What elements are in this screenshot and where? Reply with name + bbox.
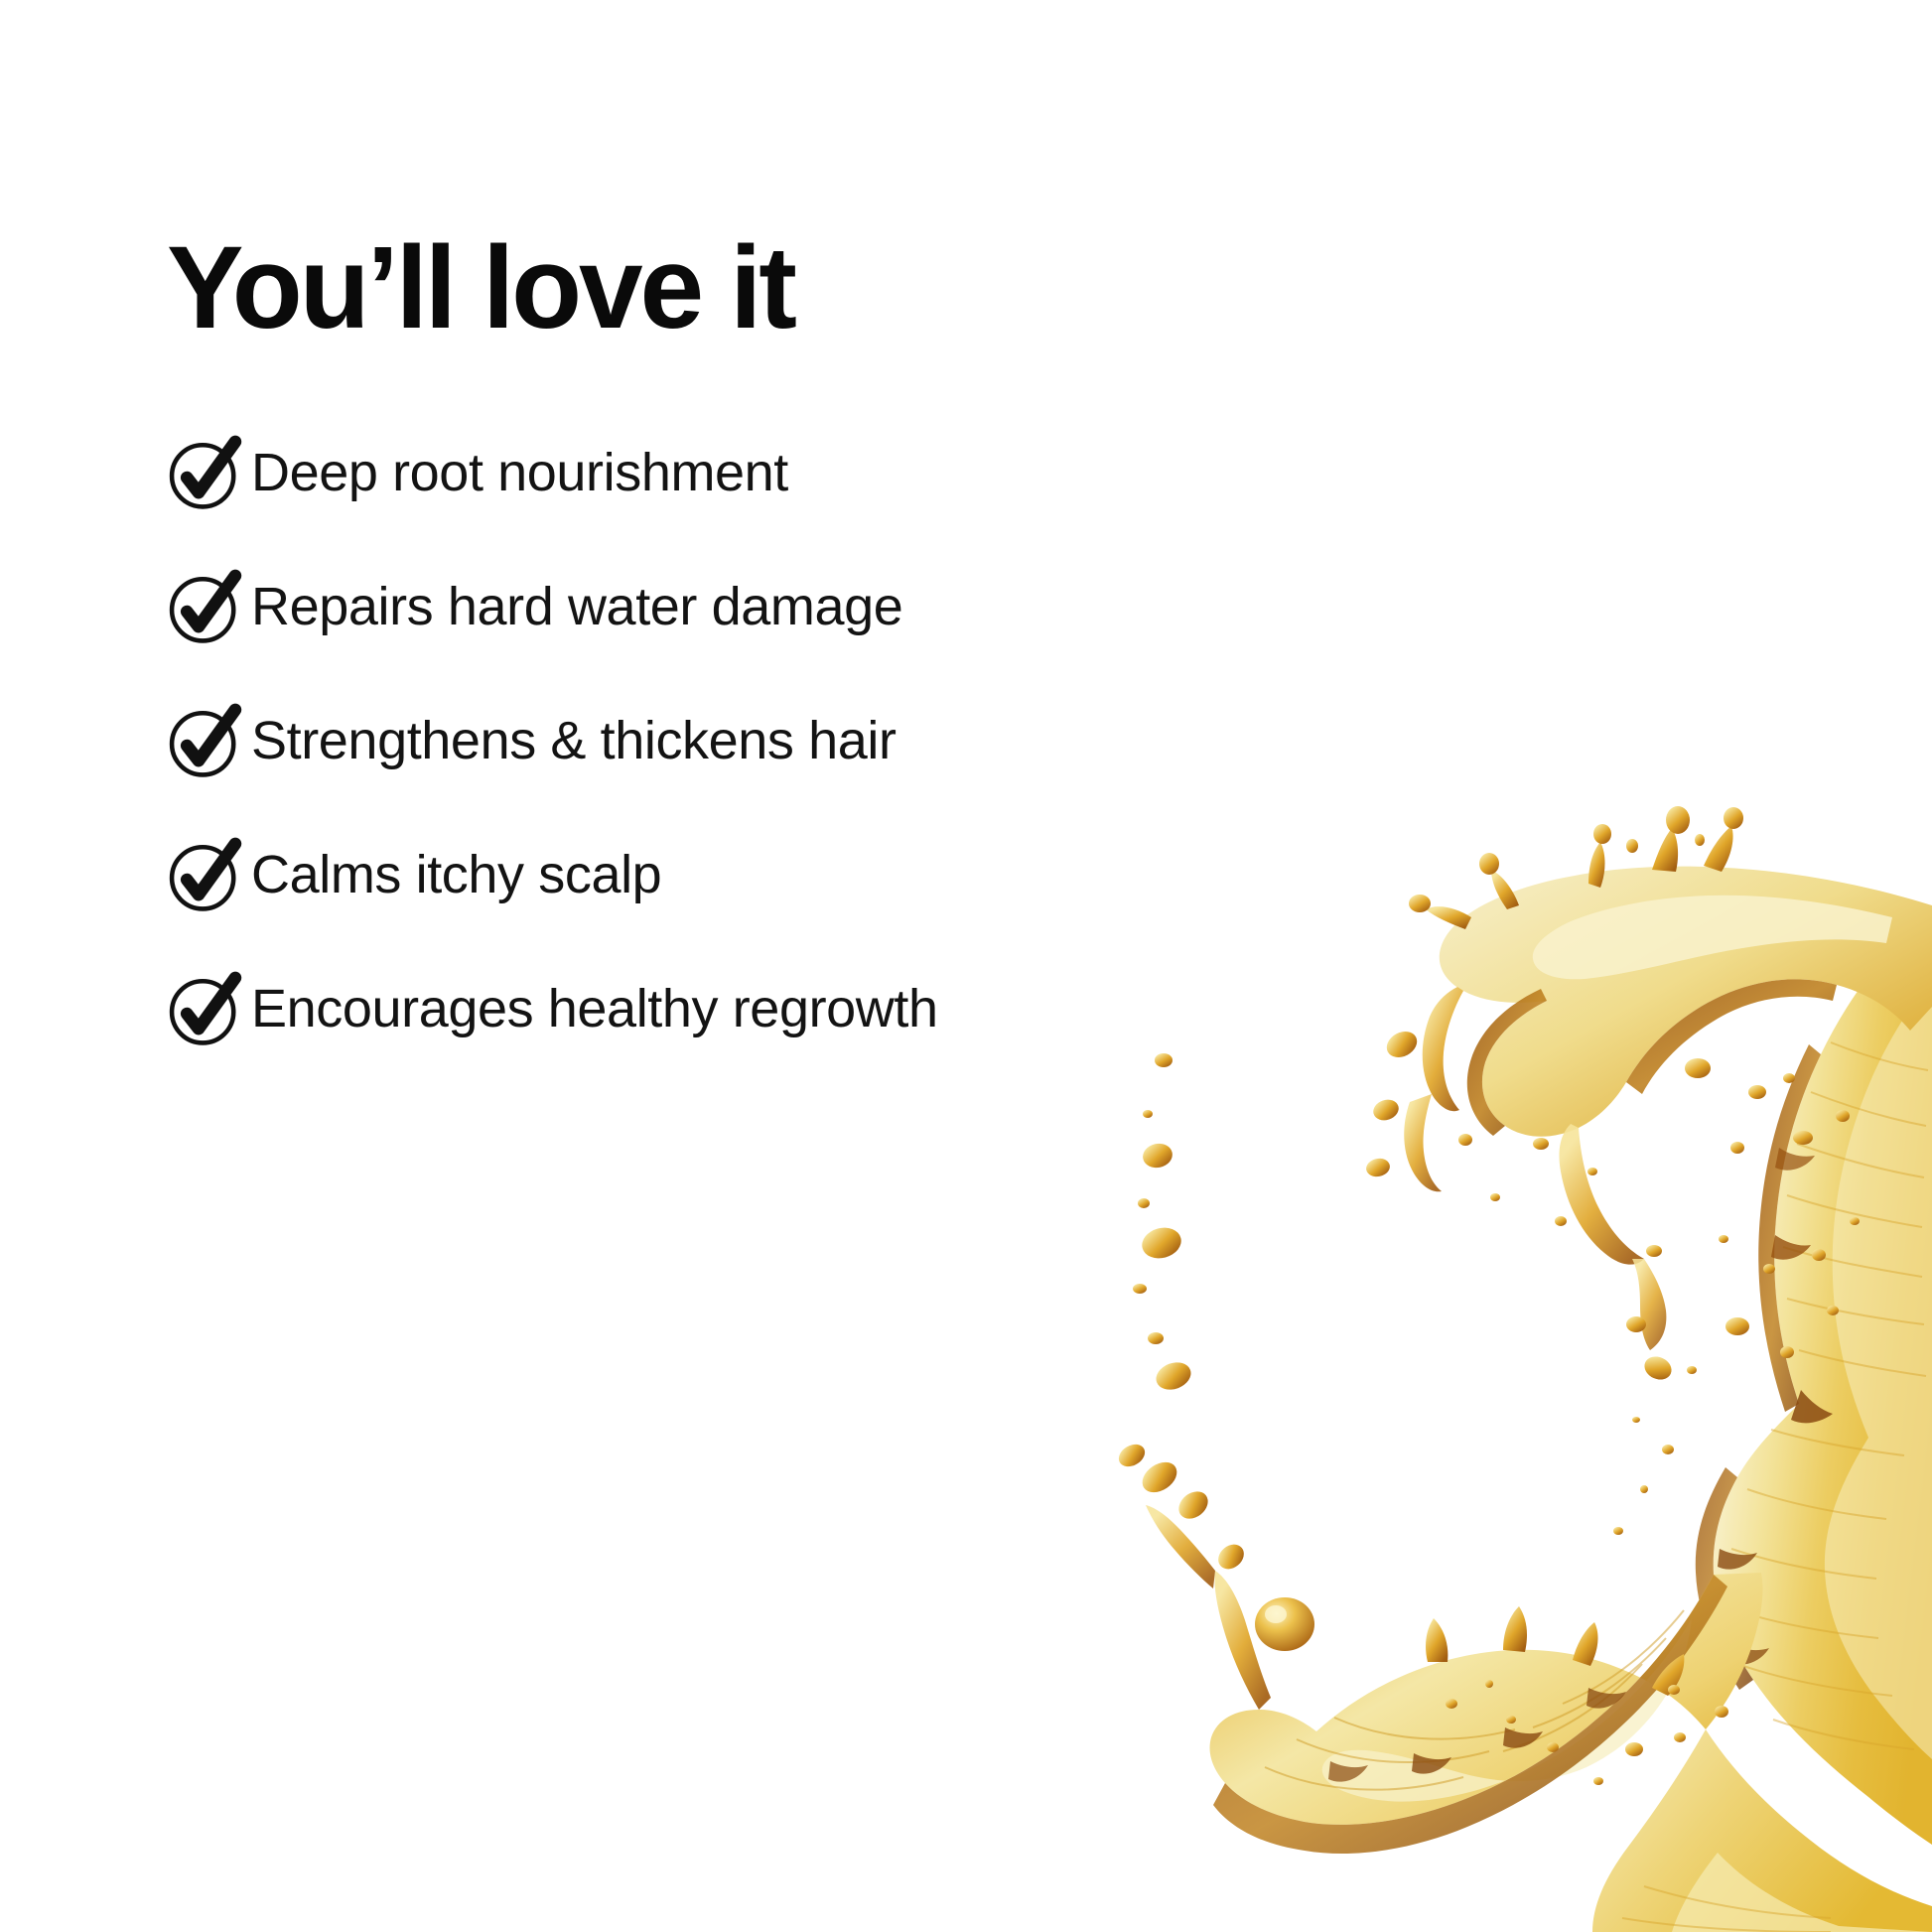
splash-left-tendril bbox=[1115, 1440, 1314, 1710]
splash-interior-droplets bbox=[1446, 1058, 1860, 1785]
list-item-label: Calms itchy scalp bbox=[251, 848, 661, 901]
check-circle-icon bbox=[162, 833, 245, 916]
list-item: Calms itchy scalp bbox=[162, 827, 1304, 922]
list-item-label: Encourages healthy regrowth bbox=[251, 982, 938, 1035]
splash-top-crest bbox=[1364, 806, 1932, 1191]
list-item: Repairs hard water damage bbox=[162, 559, 1304, 654]
check-circle-icon bbox=[162, 967, 245, 1050]
list-item-label: Strengthens & thickens hair bbox=[251, 714, 897, 767]
poster-canvas: You’ll love it Deep root nourishment Rep… bbox=[0, 0, 1932, 1932]
list-item: Strengthens & thickens hair bbox=[162, 693, 1304, 788]
splash-droplet-trail bbox=[1133, 1053, 1194, 1394]
splash-bottom-edge bbox=[1592, 1729, 1932, 1932]
list-item-label: Deep root nourishment bbox=[251, 446, 788, 499]
page-title: You’ll love it bbox=[167, 227, 794, 350]
splash-main-body bbox=[1696, 913, 1932, 1845]
check-circle-icon bbox=[162, 699, 245, 782]
check-circle-icon bbox=[162, 565, 245, 648]
splash-inner-ribbon bbox=[1559, 1124, 1675, 1384]
benefits-list: Deep root nourishment Repairs hard water… bbox=[162, 425, 1304, 1056]
list-item: Encourages healthy regrowth bbox=[162, 961, 1304, 1056]
check-circle-icon bbox=[162, 431, 245, 514]
list-item: Deep root nourishment bbox=[162, 425, 1304, 520]
splash-lower-crescent bbox=[1210, 1573, 1763, 1854]
list-item-label: Repairs hard water damage bbox=[251, 580, 902, 633]
